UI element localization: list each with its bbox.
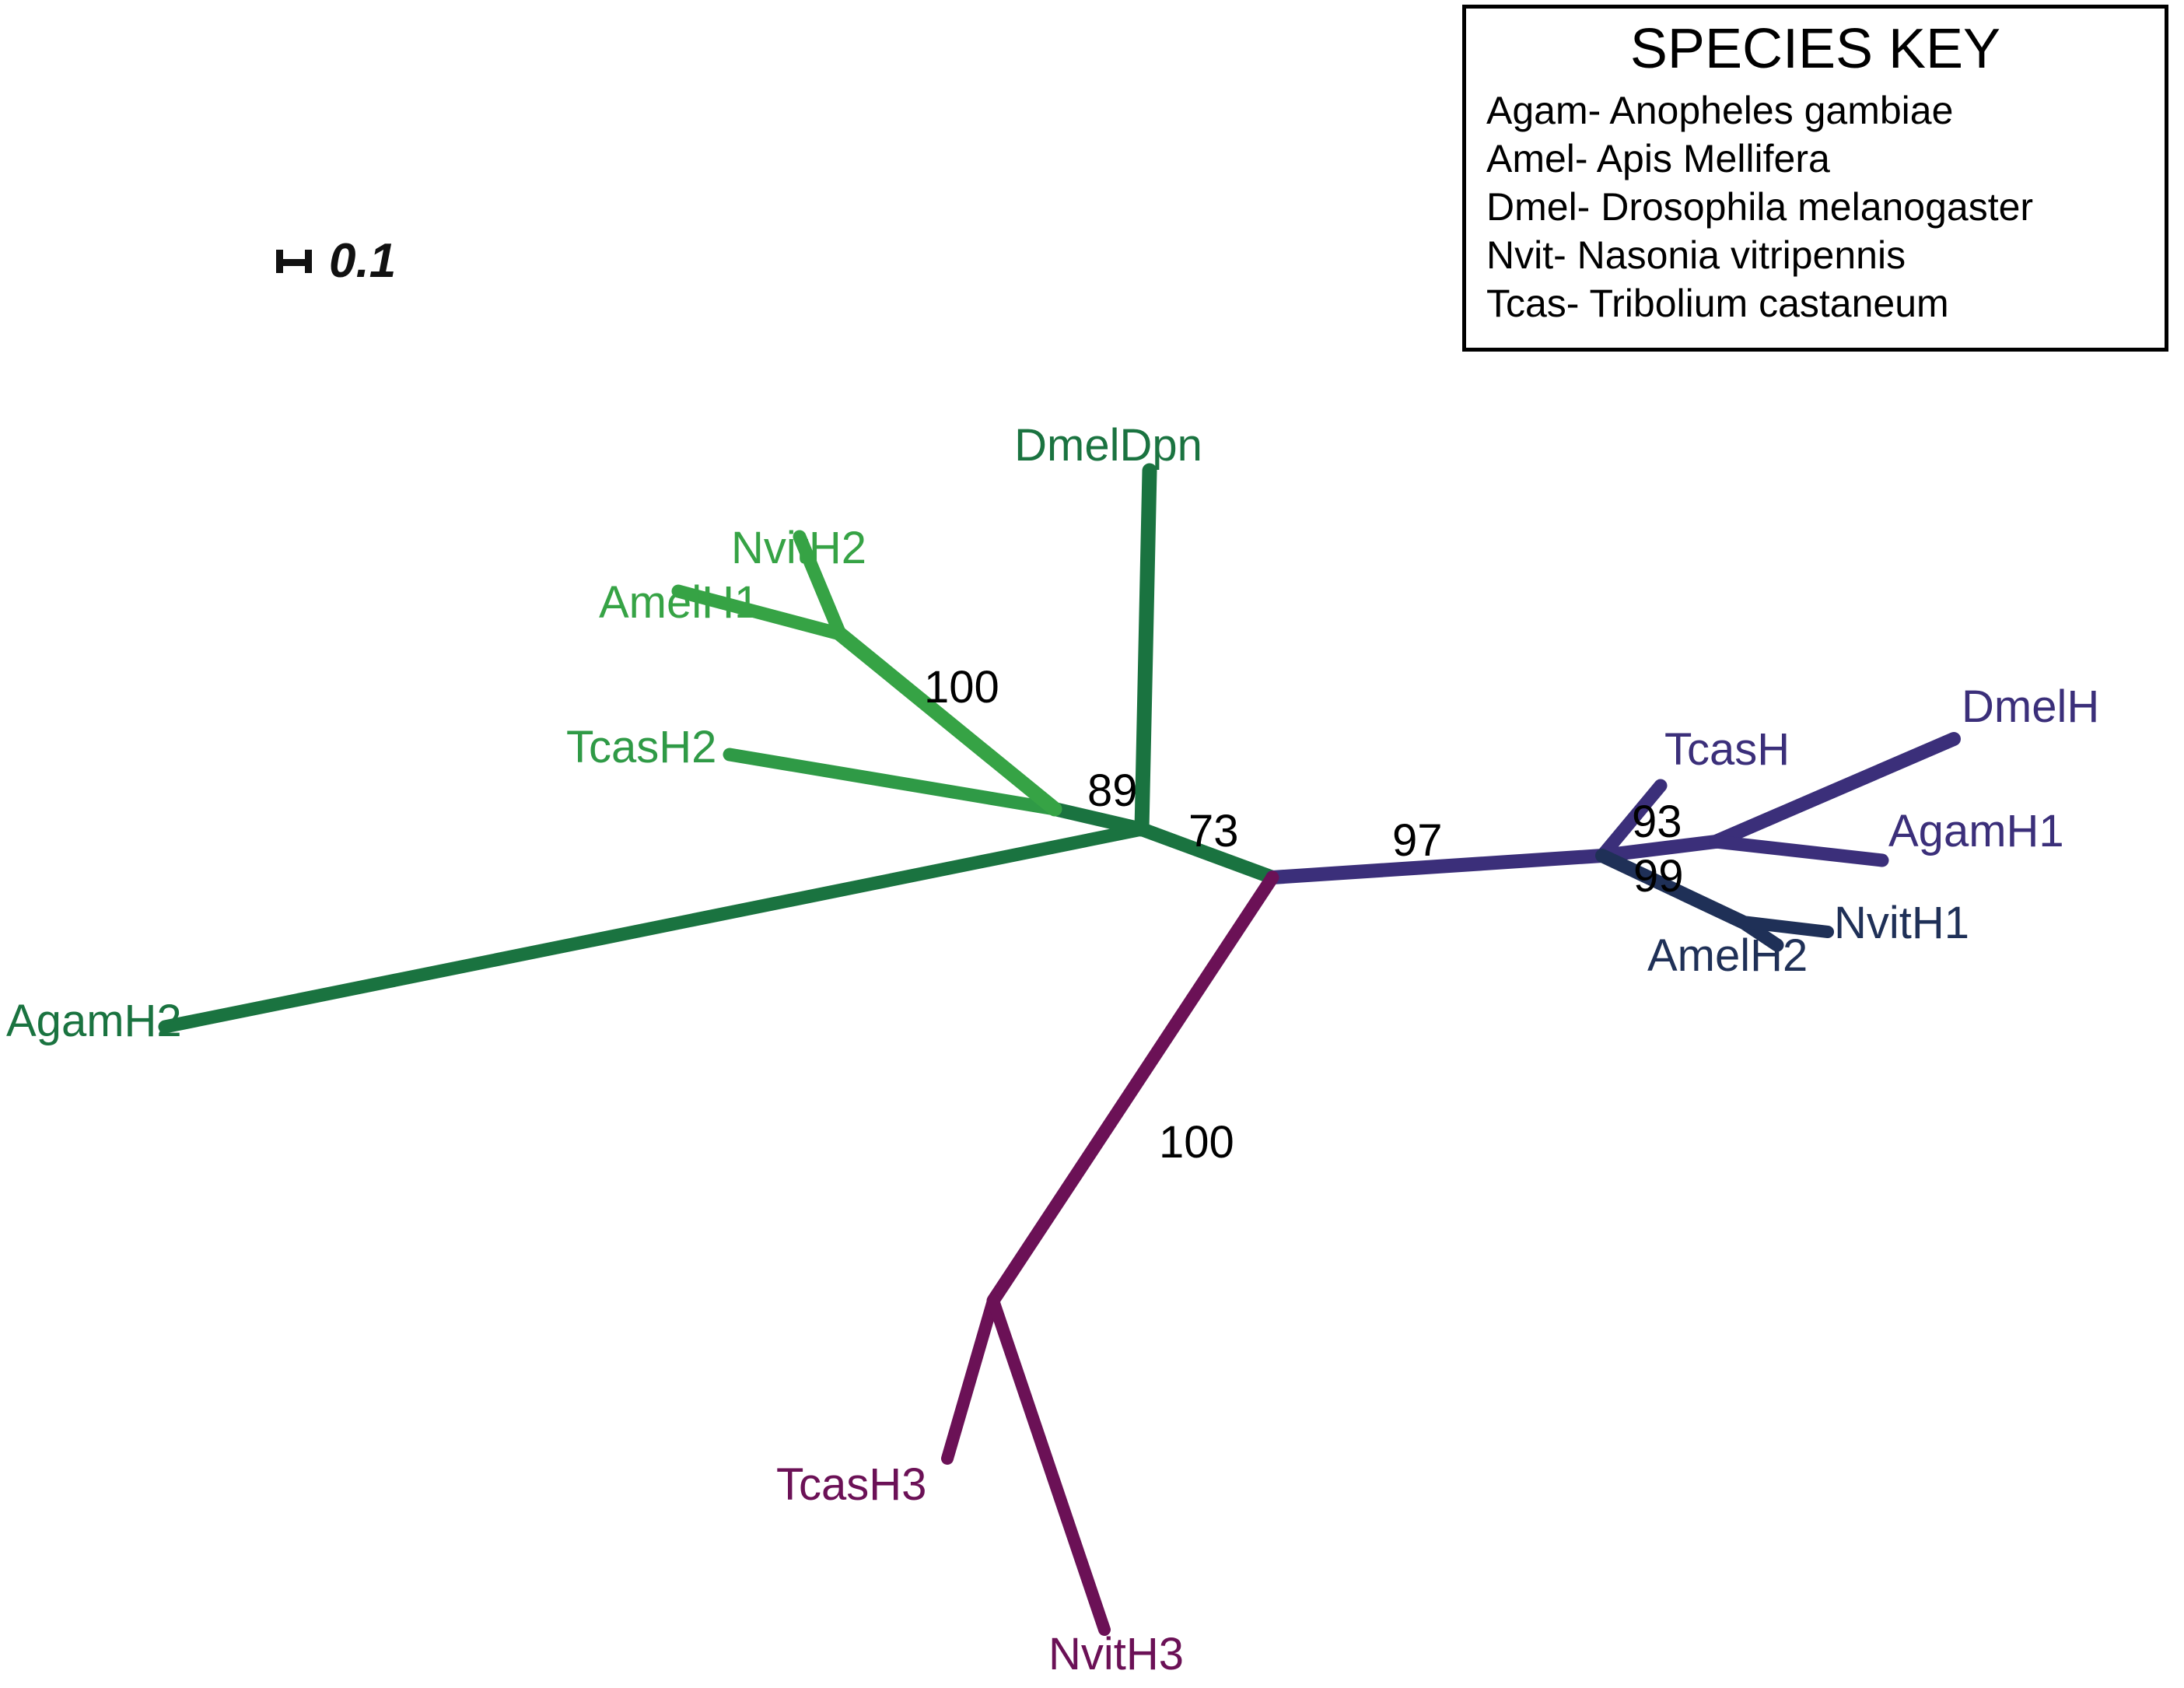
tip-label-agamh1: AgamH1 (1888, 809, 2064, 854)
support-value-93: 93 (1632, 800, 1682, 845)
species-key-entry-amel: Amel- Apis Mellifera (1486, 135, 2144, 183)
support-value-89: 89 (1087, 769, 1138, 814)
support-value-100-tcash3-nvith3: 100 (1159, 1120, 1234, 1165)
branch-dmeldpn (1142, 471, 1150, 829)
branch-group-maroon (947, 877, 1272, 1630)
species-key-box: SPECIES KEY Agam- Anopheles gambiae Amel… (1462, 5, 2168, 352)
scale-bar: 0.1 (276, 233, 396, 289)
branch-center-to-maroon-node (993, 877, 1272, 1301)
support-value-99: 99 (1633, 854, 1684, 899)
figure-canvas: 0.1 SPECIES KEY Agam- Anopheles gambiae … (0, 0, 2184, 1688)
branch-nvith3 (993, 1301, 1104, 1630)
tip-label-tcash2: TcasH2 (566, 725, 716, 770)
support-value-73: 73 (1188, 809, 1239, 854)
species-key-entry-agam: Agam- Anopheles gambiae (1486, 86, 2144, 135)
support-value-100-nvith2-amelh1: 100 (924, 665, 999, 710)
branch-group-dark-green (165, 471, 1272, 1027)
tip-label-dmelh: DmelH (1962, 685, 2099, 730)
tip-label-nvith2: NvitH2 (731, 526, 866, 571)
support-value-97: 97 (1392, 818, 1443, 863)
branch-tcash3 (947, 1301, 993, 1459)
tip-label-amelh1: AmelH1 (599, 580, 759, 625)
tip-label-nvith1: NvitH1 (1834, 901, 1969, 946)
tip-label-dmeldpn: DmelDpn (1014, 423, 1202, 468)
species-key-entry-tcas: Tcas- Tribolium castaneum (1486, 279, 2144, 327)
tip-label-nvith3: NvitH3 (1048, 1632, 1184, 1677)
scale-bar-label: 0.1 (329, 233, 396, 289)
species-key-entry-nvit: Nvit- Nasonia vitripennis (1486, 231, 2144, 279)
branch-agamh1 (1716, 842, 1882, 860)
tip-label-agamh2: AgamH2 (6, 999, 182, 1044)
scale-bar-i-beam-icon (276, 250, 312, 273)
tip-label-tcash3: TcasH3 (776, 1462, 926, 1508)
branch-agamh2 (165, 829, 1142, 1027)
species-key-title: SPECIES KEY (1486, 19, 2144, 80)
tip-label-tcash: TcasH (1664, 727, 1790, 772)
species-key-entry-dmel: Dmel- Drosophila melanogaster (1486, 183, 2144, 231)
tip-label-amelh2: AmelH2 (1647, 933, 1808, 979)
